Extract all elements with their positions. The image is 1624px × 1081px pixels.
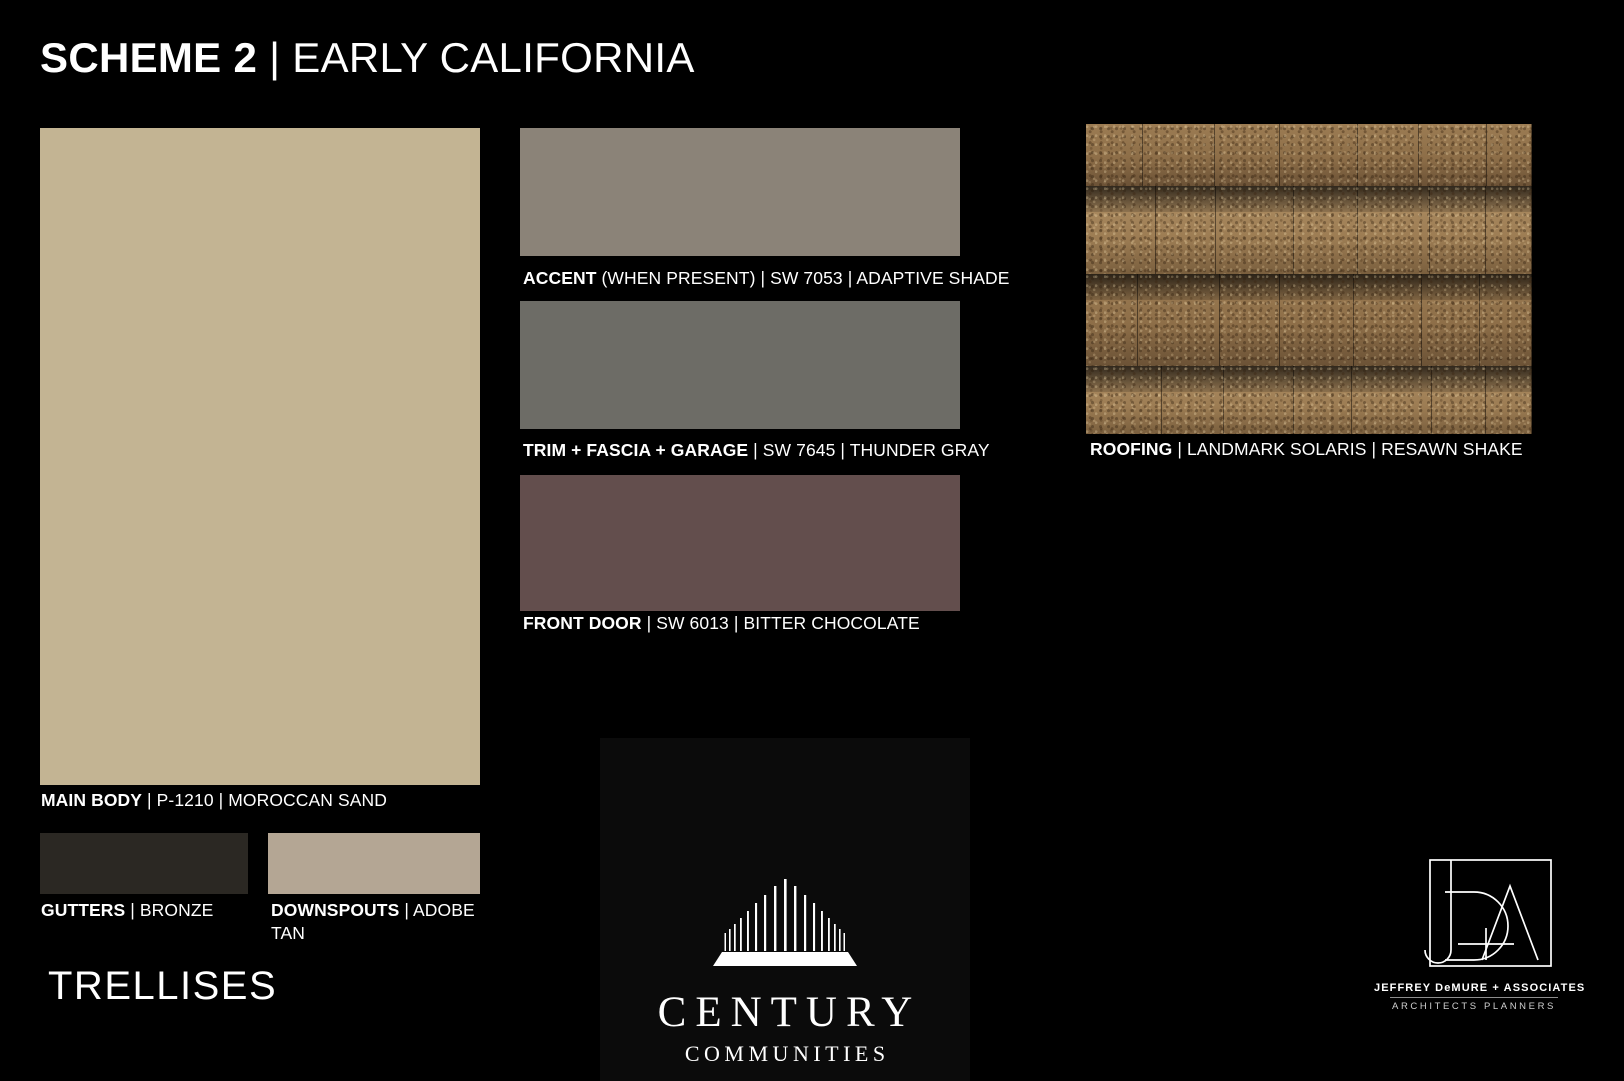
label-detail-main-body: | P-1210 | MOROCCAN SAND [142, 790, 387, 810]
page-title: SCHEME 2 | EARLY CALIFORNIA [40, 33, 695, 83]
shingle-row [1086, 366, 1532, 434]
page-title-scheme: SCHEME 2 [40, 34, 257, 81]
trellises-heading: TRELLISES [48, 962, 277, 1010]
swatch-label-trim-fascia-garage: TRIM + FASCIA + GARAGE | SW 7645 | THUND… [523, 439, 990, 462]
swatch-front-door [520, 475, 960, 611]
label-detail-roofing: | LANDMARK SOLARIS | RESAWN SHAKE [1172, 439, 1522, 459]
century-logo-name: CENTURY [649, 990, 922, 1035]
label-role-accent: ACCENT [523, 268, 597, 288]
swatch-label-gutters: GUTTERS | BRONZE [41, 899, 213, 922]
jda-logo: JEFFREY DeMURE + ASSOCIATES ARCHITECTS P… [1374, 856, 1574, 1056]
shingle-row [1086, 186, 1532, 274]
century-communities-logo: CENTURY COMMUNITIES [600, 738, 970, 1081]
label-detail-front-door: | SW 6013 | BITTER CHOCOLATE [642, 613, 920, 633]
swatch-label-front-door: FRONT DOOR | SW 6013 | BITTER CHOCOLATE [523, 612, 920, 635]
label-detail-trim: | SW 7645 | THUNDER GRAY [748, 440, 989, 460]
swatch-downspouts [268, 833, 480, 894]
shingle-row [1086, 274, 1532, 366]
jda-firm-name: JEFFREY DeMURE + ASSOCIATES [1374, 982, 1574, 994]
swatch-roofing-shingle-photo [1086, 124, 1532, 434]
label-detail-gutters: | BRONZE [125, 900, 213, 920]
swatch-main-body [40, 128, 480, 785]
page-title-separator: | [257, 34, 292, 81]
jda-monogram-icon [1402, 856, 1557, 974]
color-scheme-board: SCHEME 2 | EARLY CALIFORNIA MAIN BODY | … [0, 0, 1624, 1081]
swatch-label-roofing: ROOFING | LANDMARK SOLARIS | RESAWN SHAK… [1090, 438, 1523, 461]
swatch-trim-fascia-garage [520, 301, 960, 429]
century-fan-icon [692, 876, 878, 968]
swatch-gutters [40, 833, 248, 894]
jda-divider [1390, 997, 1558, 998]
label-detail-accent: (WHEN PRESENT) | SW 7053 | ADAPTIVE SHAD… [597, 268, 1010, 288]
swatch-accent [520, 128, 960, 256]
label-role-gutters: GUTTERS [41, 900, 125, 920]
shingle-row [1086, 124, 1532, 186]
label-role-front-door: FRONT DOOR [523, 613, 642, 633]
label-role-trim: TRIM + FASCIA + GARAGE [523, 440, 748, 460]
label-role-main-body: MAIN BODY [41, 790, 142, 810]
century-logo-subtitle: COMMUNITIES [680, 1041, 889, 1067]
page-title-name: EARLY CALIFORNIA [292, 34, 694, 81]
swatch-label-main-body: MAIN BODY | P-1210 | MOROCCAN SAND [41, 789, 387, 812]
jda-disciplines: ARCHITECTS PLANNERS [1374, 1001, 1574, 1012]
swatch-label-downspouts: DOWNSPOUTS | ADOBE TAN [271, 899, 481, 945]
swatch-label-accent: ACCENT (WHEN PRESENT) | SW 7053 | ADAPTI… [523, 267, 1009, 290]
label-role-downspouts: DOWNSPOUTS [271, 900, 399, 920]
label-role-roofing: ROOFING [1090, 439, 1172, 459]
